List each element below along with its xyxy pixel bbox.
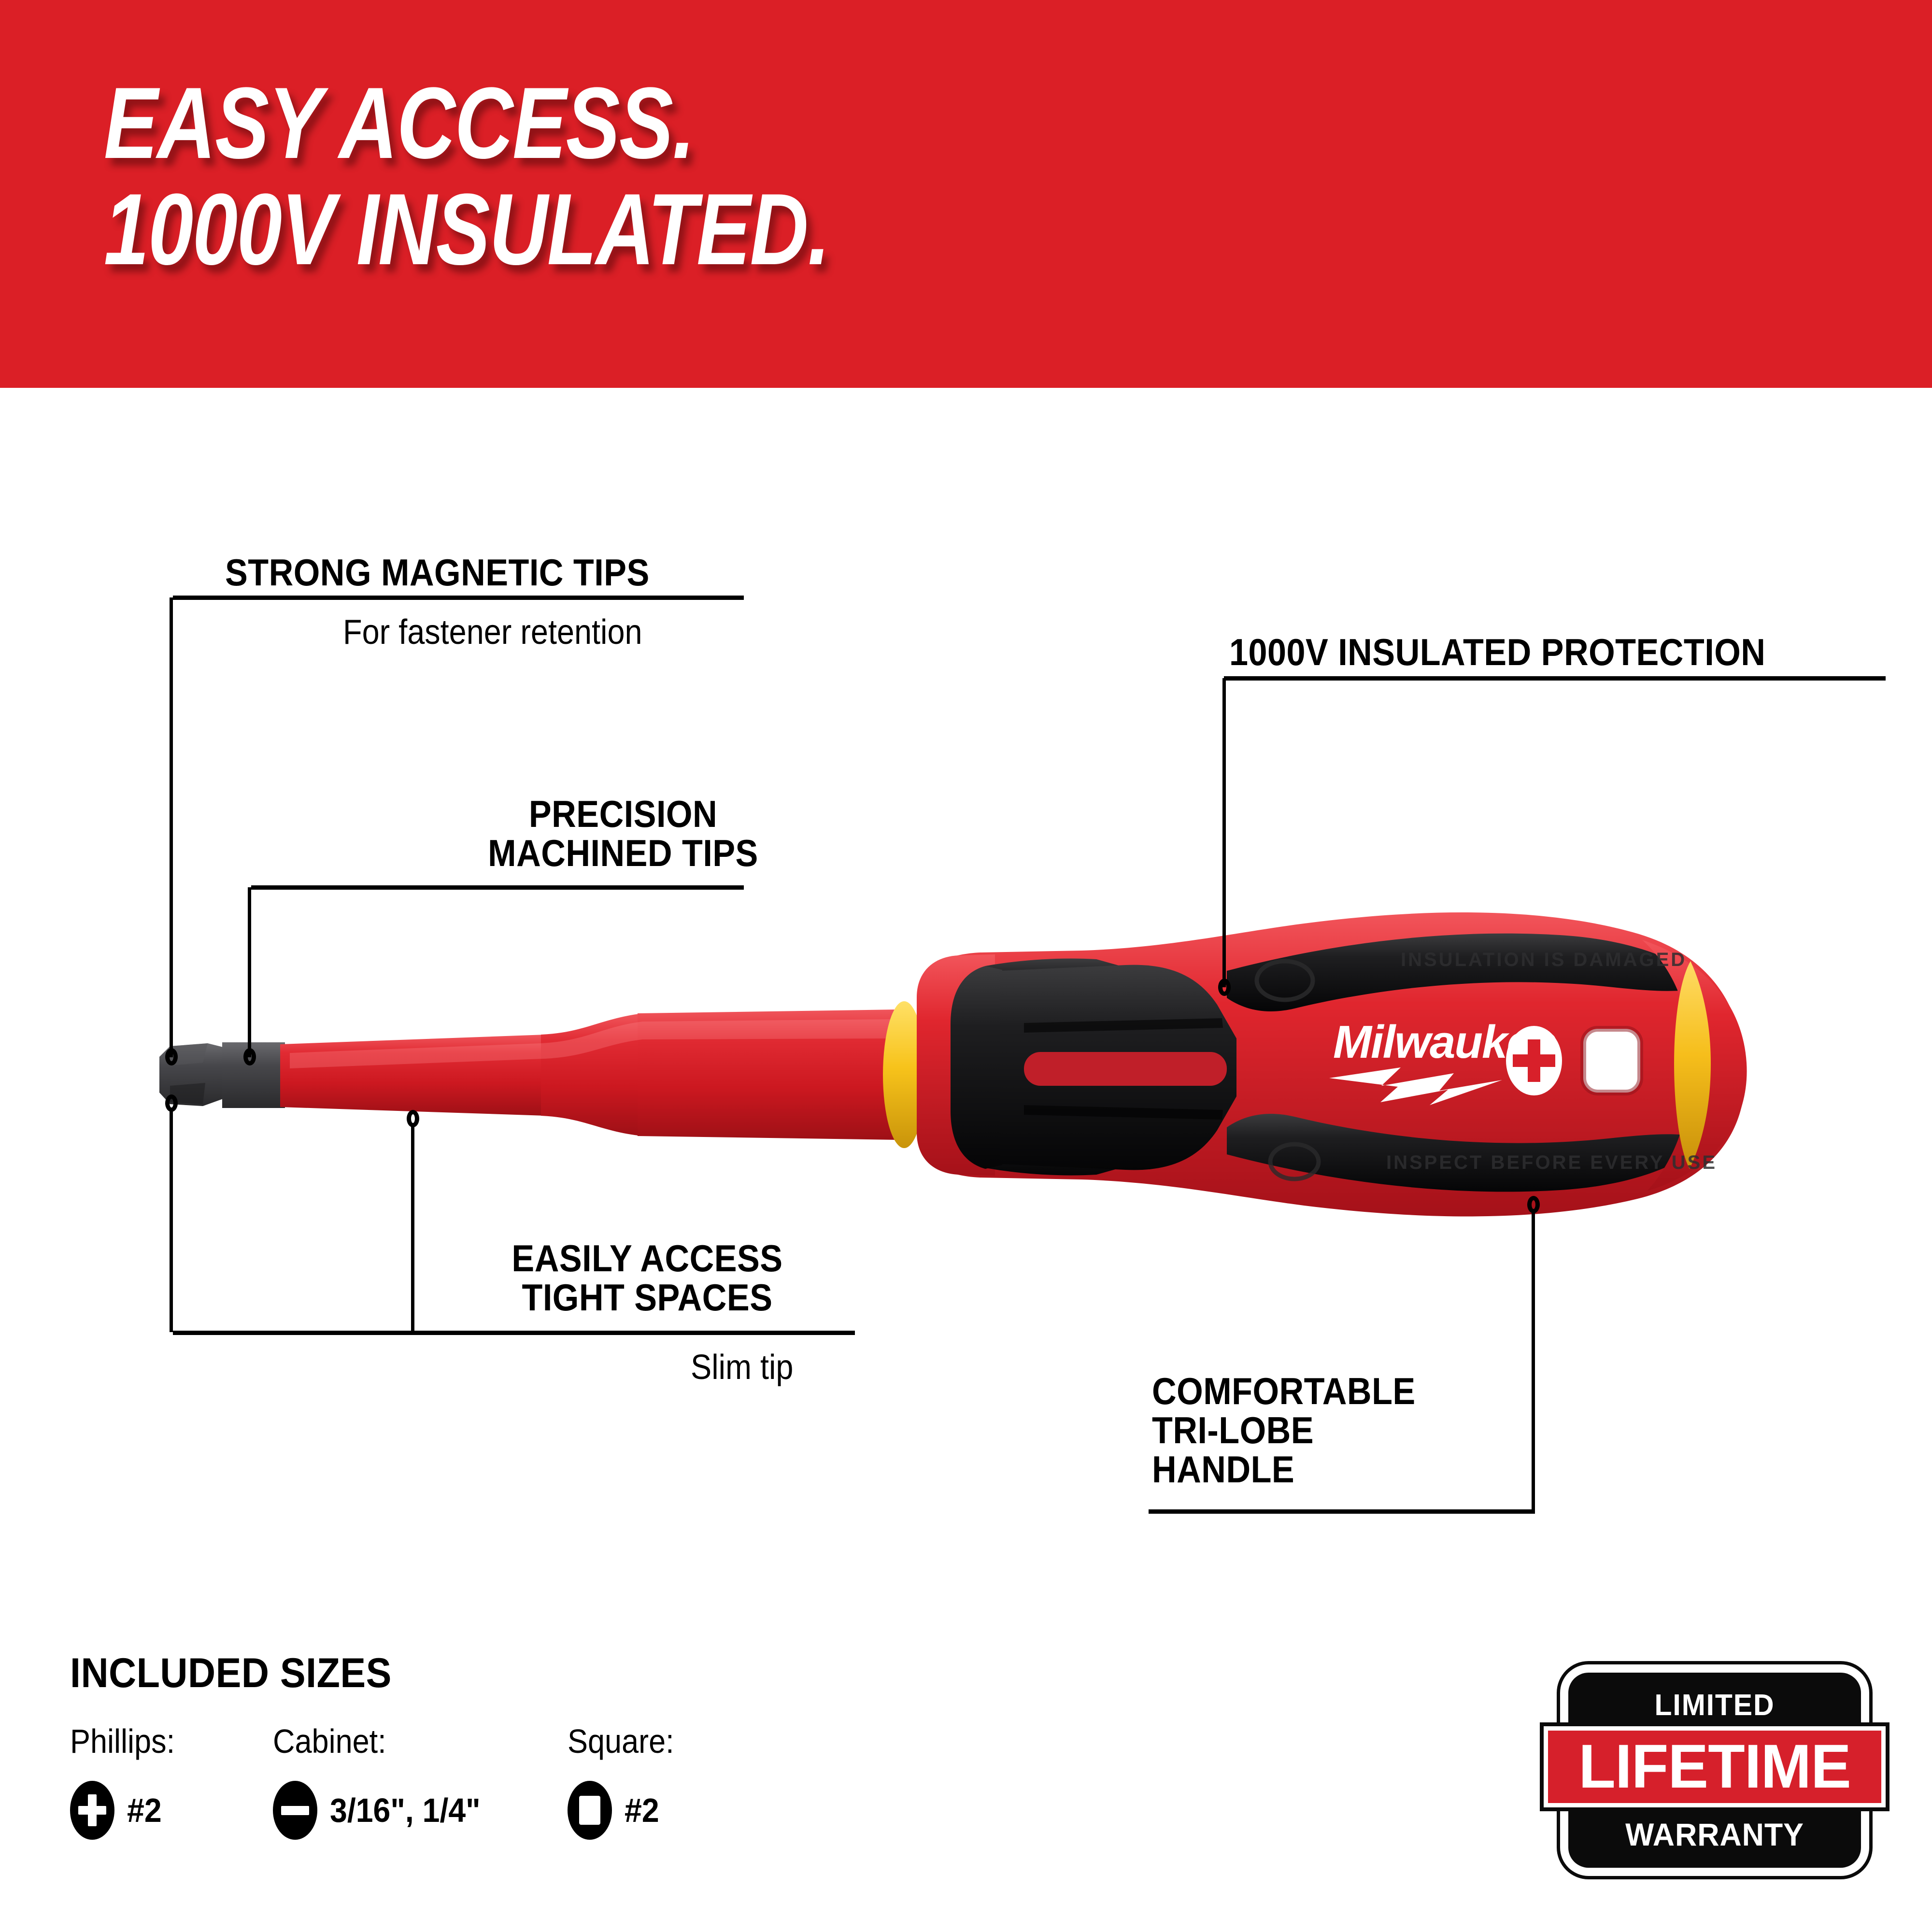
slotted-icon bbox=[273, 1781, 317, 1840]
emboss-warning-top: INSULATION IS DAMAGED bbox=[1401, 949, 1687, 970]
callout-rule-magnetic bbox=[173, 596, 744, 600]
size-value-phillips: #2 bbox=[127, 1791, 162, 1830]
leader-dot-handle bbox=[1527, 1196, 1540, 1213]
callout-sub-tight-spaces: Slim tip bbox=[691, 1348, 793, 1387]
size-label-phillips: Phillips: bbox=[70, 1722, 175, 1761]
size-value-cabinet: 3/16", 1/4" bbox=[330, 1791, 481, 1830]
screwdriver-tip bbox=[159, 1042, 285, 1108]
callout-rule-handle bbox=[1149, 1509, 1535, 1514]
included-sizes-heading: INCLUDED SIZES bbox=[70, 1649, 392, 1697]
callout-title-magnetic: STRONG MAGNETIC TIPS bbox=[225, 553, 790, 592]
callout-title-insulated: 1000V INSULATED PROTECTION bbox=[1229, 633, 1881, 672]
leader-dot-magnetic bbox=[165, 1048, 178, 1065]
leader-line-precision bbox=[248, 887, 251, 1057]
leader-line-magnetic bbox=[170, 597, 173, 1057]
badge-limited-text: LIMITED bbox=[1576, 1688, 1854, 1722]
size-column-square: Square: #2 bbox=[568, 1722, 686, 1840]
size-column-cabinet: Cabinet: 3/16", 1/4" bbox=[273, 1722, 494, 1840]
grip-front-cap bbox=[951, 966, 1002, 1169]
phillips-bit-badge bbox=[1506, 1026, 1562, 1095]
leader-dot-tight-spaces-a bbox=[165, 1094, 178, 1112]
grip-red-groove bbox=[1024, 1052, 1227, 1086]
callout-rule-precision bbox=[251, 885, 744, 890]
callout-rule-insulated bbox=[1224, 676, 1886, 681]
included-sizes-section: INCLUDED SIZES Phillips: #2 Cabinet: 3/1… bbox=[70, 1649, 420, 1697]
square-icon bbox=[568, 1781, 612, 1840]
phillips-icon bbox=[70, 1781, 114, 1840]
callout-title-tight-spaces: EASILY ACCESS TIGHT SPACES bbox=[456, 1239, 838, 1317]
screwdriver-product-image: Milwaukee INSULATION IS DAMAGED INSPECT … bbox=[0, 0, 1932, 1932]
emboss-warning-bottom: INSPECT BEFORE EVERY USE bbox=[1386, 1152, 1717, 1173]
leader-dot-insulated bbox=[1218, 979, 1231, 996]
callout-sub-magnetic: For fastener retention bbox=[343, 612, 642, 652]
warranty-badge: LIMITED LIFETIME WARRANTY bbox=[1548, 1669, 1881, 1872]
size-value-square: #2 bbox=[625, 1791, 659, 1830]
callout-title-precision: PRECISION MACHINED TIPS bbox=[427, 795, 819, 873]
callout-rule-tight-spaces bbox=[173, 1331, 855, 1335]
leader-line-insulated bbox=[1222, 678, 1226, 987]
callout-title-handle: COMFORTABLE TRI-LOBE HANDLE bbox=[1152, 1372, 1630, 1489]
leader-line-tight-spaces-b bbox=[411, 1126, 414, 1332]
leader-line-handle bbox=[1532, 1212, 1535, 1511]
leader-dot-precision bbox=[243, 1048, 256, 1065]
size-column-phillips: Phillips: #2 bbox=[70, 1722, 186, 1840]
leader-line-tight-spaces-a bbox=[170, 1111, 173, 1332]
hanging-hole bbox=[1583, 1029, 1640, 1093]
leader-dot-tight-spaces-b bbox=[407, 1110, 419, 1127]
size-label-square: Square: bbox=[568, 1722, 674, 1761]
badge-lifetime-text: LIFETIME bbox=[1551, 1732, 1878, 1802]
size-label-cabinet: Cabinet: bbox=[273, 1722, 471, 1761]
badge-warranty-text: WARRANTY bbox=[1576, 1816, 1854, 1853]
